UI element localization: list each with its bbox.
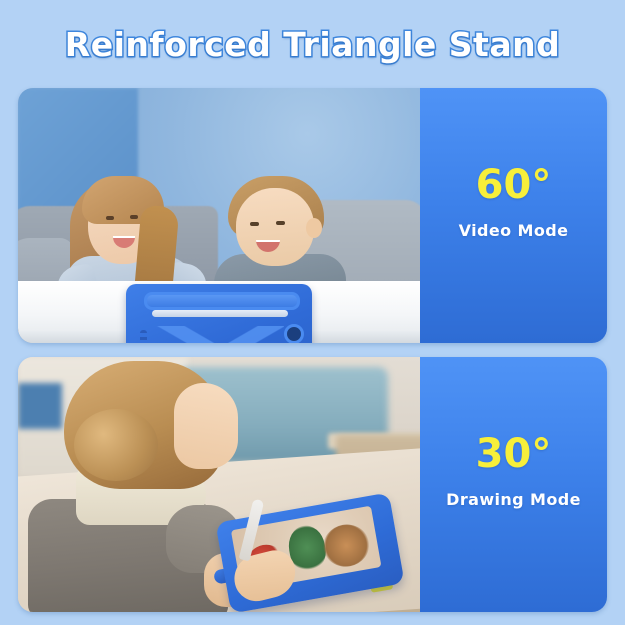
stylus-slot bbox=[152, 310, 288, 317]
boy-eye-right bbox=[276, 221, 285, 225]
triangle-stand-pattern bbox=[156, 326, 284, 343]
page-title: Reinforced Triangle Stand bbox=[65, 25, 560, 64]
feature-card-drawing-mode: 30° Drawing Mode bbox=[18, 357, 607, 612]
product-photo-video-mode bbox=[18, 88, 420, 343]
product-photo-drawing-mode bbox=[18, 357, 420, 612]
angle-value: 60° bbox=[476, 165, 552, 205]
tablet-handle bbox=[144, 292, 300, 310]
angle-value: 30° bbox=[476, 434, 552, 474]
info-panel-drawing-mode: 30° Drawing Mode bbox=[420, 357, 607, 612]
header: Reinforced Triangle Stand bbox=[0, 0, 625, 88]
boy-face bbox=[236, 188, 314, 266]
drawing-art-brown bbox=[320, 521, 373, 570]
camera-cutout-icon bbox=[284, 324, 304, 343]
girl-eye-left bbox=[106, 216, 114, 220]
girl-eye-right bbox=[130, 215, 138, 219]
speaker-vents bbox=[140, 330, 147, 343]
child-hair-curl bbox=[74, 409, 158, 481]
info-panel-video-mode: 60° Video Mode bbox=[420, 88, 607, 343]
mode-label: Video Mode bbox=[459, 221, 569, 240]
scene-blue-object bbox=[18, 383, 62, 429]
mode-label: Drawing Mode bbox=[446, 490, 581, 509]
boy-ear bbox=[306, 218, 322, 238]
boy-eye-left bbox=[250, 222, 259, 226]
feature-card-video-mode: 60° Video Mode bbox=[18, 88, 607, 343]
child-face-profile bbox=[174, 383, 238, 469]
tablet-case-blue bbox=[126, 284, 312, 343]
